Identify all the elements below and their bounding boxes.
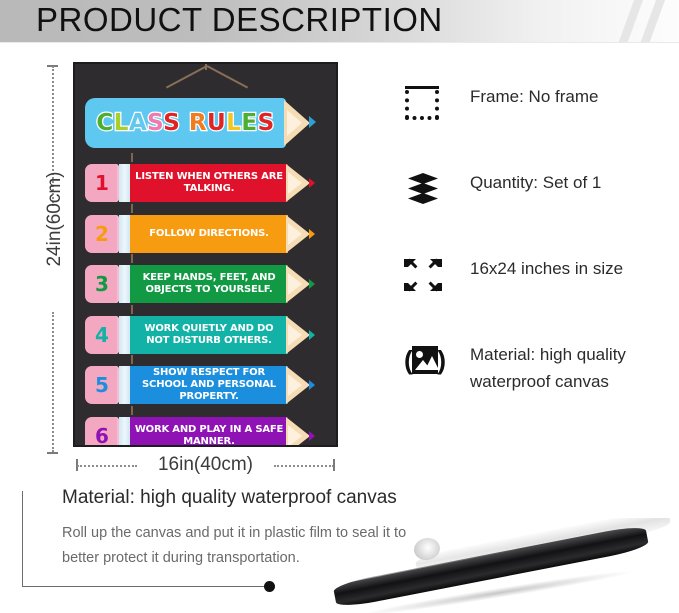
width-dimension: 16in(40cm): [73, 452, 338, 478]
title-letter: L: [226, 110, 241, 136]
rules-list: 1LISTEN WHEN OTHERS ARE TALKING.2FOLLOW …: [85, 161, 328, 447]
poster-rows: CLASS RULES 1LISTEN WHEN OTHERS ARE TALK…: [85, 98, 328, 447]
feature-frame-label: Frame: No frame: [470, 83, 670, 110]
feature-material: ( ) Material: high quality waterproof ca…: [400, 342, 670, 416]
title-letter: E: [241, 110, 257, 136]
note-bracket-vertical: [22, 491, 23, 587]
pencil-tip-highlight: [288, 324, 302, 346]
poster-title-banner: CLASS RULES: [85, 98, 328, 152]
rule-row: 6WORK AND PLAY IN A SAFE MANNER.: [85, 414, 328, 448]
title-letter: S: [258, 110, 275, 136]
rule-number: 3: [85, 265, 119, 303]
rolled-canvas-photo: [318, 518, 679, 613]
frame-icon: [404, 86, 444, 126]
pencil-lead-icon: [309, 229, 315, 239]
rule-number: 6: [85, 417, 119, 448]
row-connector: [131, 406, 133, 415]
height-dimension-label: 24in(60cm): [44, 159, 66, 279]
pencil-lead-icon: [309, 116, 316, 128]
pencil-lead-icon: [309, 330, 315, 340]
rule-text: WORK QUIETLY AND DO NOT DISTURB OTHERS.: [130, 316, 288, 354]
rule-text: WORK AND PLAY IN A SAFE MANNER.: [130, 417, 288, 448]
feature-material-label: Material: high quality waterproof canvas: [470, 341, 670, 395]
feature-quantity-label: Quantity: Set of 1: [470, 169, 670, 196]
image-icon: ( ): [404, 344, 444, 384]
poster-title-text: CLASS RULES: [96, 110, 274, 136]
pencil-lead-icon: [309, 380, 315, 390]
layers-icon: [404, 172, 444, 212]
pencil-lead-icon: [309, 178, 315, 188]
feature-list: Frame: No frame Quantity: Set of 1 16x24…: [400, 84, 670, 428]
page-title: PRODUCT DESCRIPTION: [36, 0, 443, 41]
rule-text: KEEP HANDS, FEET, AND OBJECTS TO YOURSEL…: [130, 265, 288, 303]
height-dimension: 24in(60cm): [42, 60, 64, 450]
dimension-arrow-cap-bottom: [47, 452, 58, 454]
note-pointer-dot: [264, 581, 275, 592]
pencil-ferrule: [119, 164, 130, 202]
pencil-ferrule: [119, 417, 130, 448]
dimension-dotted-line: [274, 465, 334, 467]
rule-row: 4WORK QUIETLY AND DO NOT DISTURB OTHERS.: [85, 313, 328, 357]
poster-preview-area: 24in(60cm) CLASS RULES 1LISTEN WHEN OTHE…: [0, 52, 360, 482]
note-title: Material: high quality waterproof canvas: [62, 487, 397, 509]
title-bar: CLASS RULES: [85, 98, 286, 148]
row-connector: [131, 153, 133, 162]
pencil-tip-highlight: [287, 110, 302, 136]
pencil-tip-highlight: [288, 172, 302, 194]
row-connector: [131, 254, 133, 263]
header-slash-decoration: [637, 0, 668, 42]
pencil-tip-highlight: [288, 273, 302, 295]
header-divider: [0, 42, 679, 43]
pencil-tip-highlight: [288, 223, 302, 245]
feature-size-label: 16x24 inches in size: [470, 255, 670, 282]
rule-row: 2FOLLOW DIRECTIONS.: [85, 212, 328, 256]
pencil-ferrule: [119, 316, 130, 354]
title-letter: [180, 110, 189, 136]
feature-size: 16x24 inches in size: [400, 256, 670, 330]
feature-quantity: Quantity: Set of 1: [400, 170, 670, 244]
rule-number: 4: [85, 316, 119, 354]
class-rules-poster: CLASS RULES 1LISTEN WHEN OTHERS ARE TALK…: [73, 62, 338, 447]
rule-text: FOLLOW DIRECTIONS.: [130, 215, 288, 253]
rule-row: 3KEEP HANDS, FEET, AND OBJECTS TO YOURSE…: [85, 262, 328, 306]
pencil-ferrule: [119, 265, 130, 303]
note-bracket-horizontal: [22, 586, 270, 587]
rule-number: 2: [85, 215, 119, 253]
pencil-tip-highlight: [288, 374, 302, 396]
title-letter: C: [96, 110, 113, 136]
header-slash-decoration: [615, 0, 646, 42]
rule-row: 5SHOW RESPECT FOR SCHOOL AND PERSONAL PR…: [85, 363, 328, 407]
title-letter: A: [129, 110, 147, 136]
rule-number: 1: [85, 164, 119, 202]
rule-number: 5: [85, 366, 119, 404]
row-connector: [131, 355, 133, 364]
row-connector: [131, 204, 133, 213]
title-letter: S: [147, 110, 163, 136]
pencil-lead-icon: [309, 431, 315, 441]
rule-text: SHOW RESPECT FOR SCHOOL AND PERSONAL PRO…: [130, 366, 288, 404]
feature-frame: Frame: No frame: [400, 84, 670, 158]
title-letter: R: [189, 110, 207, 136]
title-letter: S: [163, 110, 180, 136]
rule-text: LISTEN WHEN OTHERS ARE TALKING.: [130, 164, 288, 202]
dimension-arrow-cap-right: [333, 459, 335, 471]
page-header: PRODUCT DESCRIPTION: [0, 0, 679, 42]
title-letter: L: [114, 110, 129, 136]
pencil-ferrule: [119, 366, 130, 404]
rule-row: 1LISTEN WHEN OTHERS ARE TALKING.: [85, 161, 328, 205]
row-connector: [131, 305, 133, 314]
expand-arrows-icon: [404, 258, 444, 298]
pencil-lead-icon: [309, 279, 315, 289]
pencil-ferrule: [119, 215, 130, 253]
title-letter: U: [207, 110, 226, 136]
hanging-string: [122, 66, 290, 102]
dimension-dotted-line: [52, 312, 54, 452]
pencil-tip-highlight: [288, 425, 302, 447]
